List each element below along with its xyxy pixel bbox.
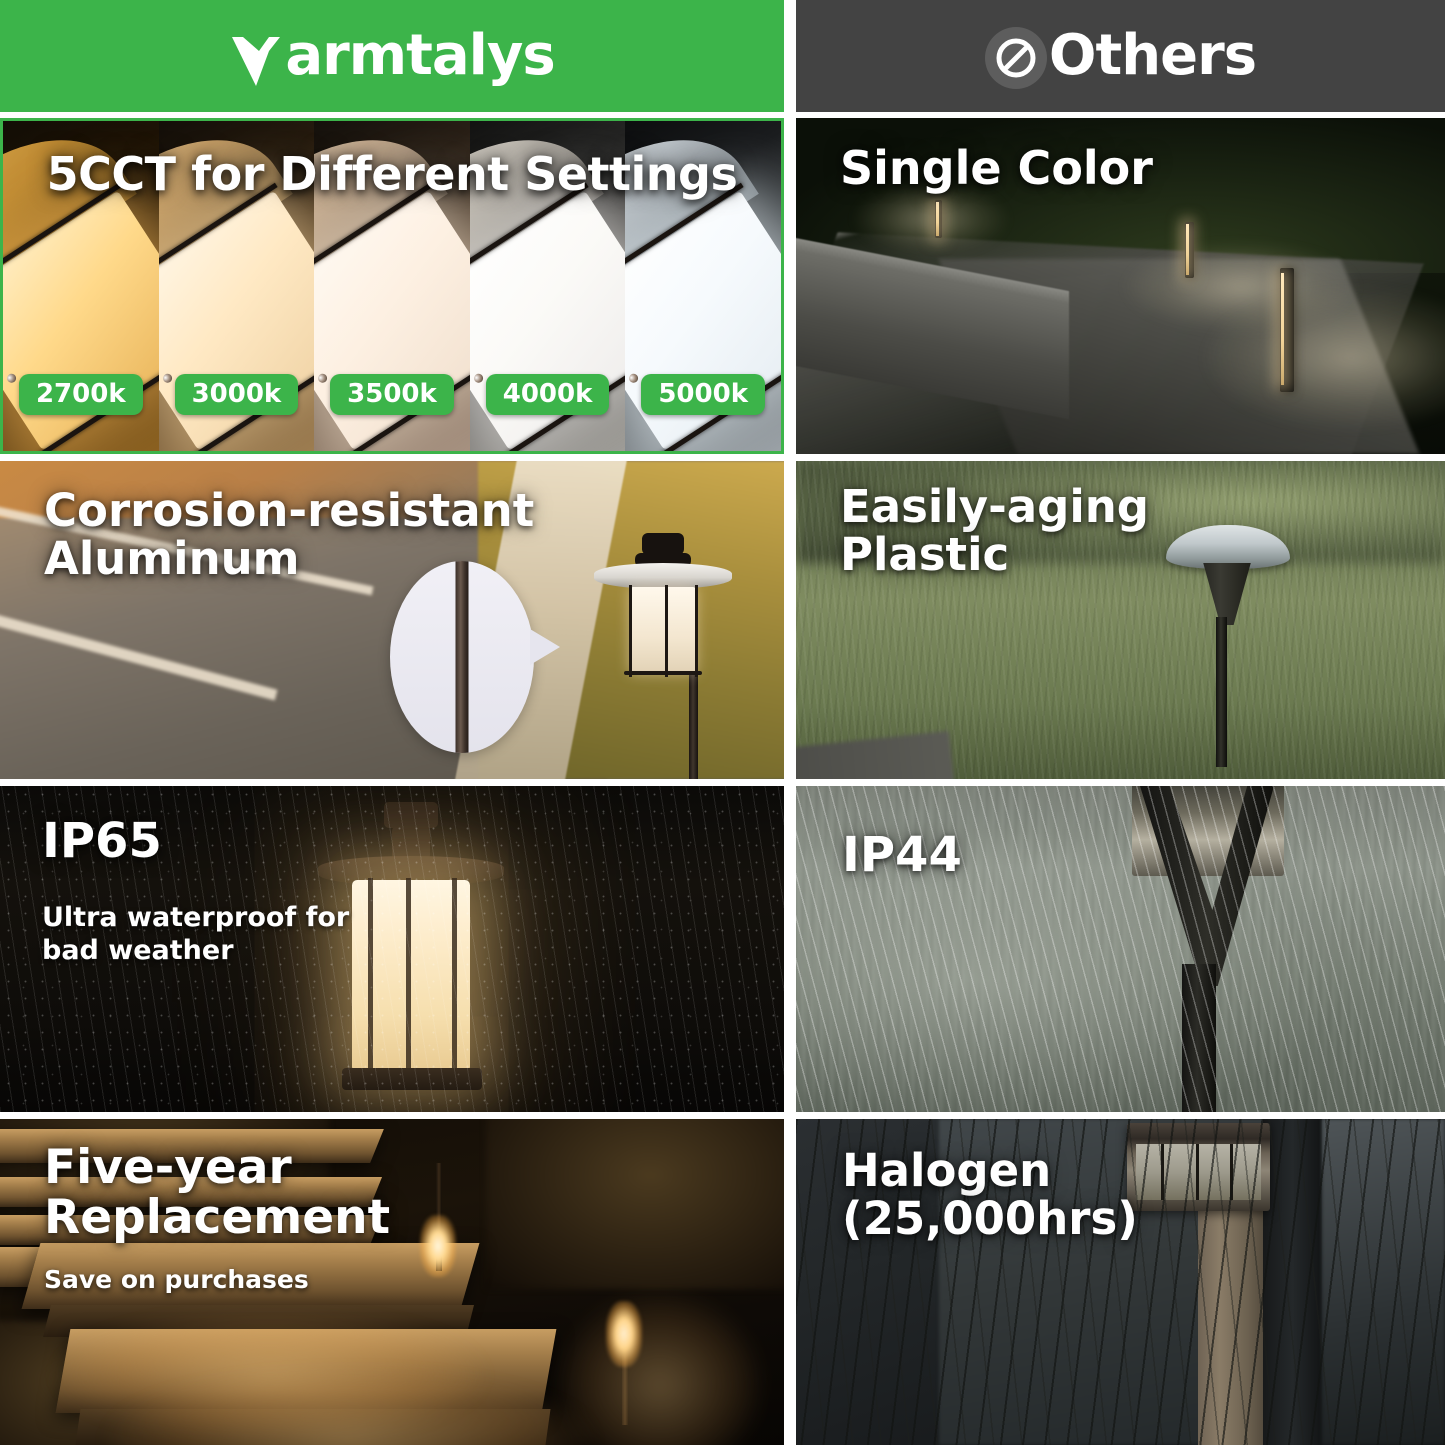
others-title: Others [1049,28,1256,84]
badge-2700k: 2700k [19,374,143,415]
plastic-title: Easily-aging Plastic [840,483,1149,578]
badge-3000k: 3000k [175,374,299,415]
ip44-title: IP44 [842,830,962,881]
brand-logo: armtalys [229,27,554,85]
no-entry-icon [985,27,1047,89]
brand-column: armtalys [0,0,784,1445]
aluminum-title: Corrosion-resistant Aluminum [44,487,534,582]
cell-warranty: Five-year Replacement Save on purchases [0,1119,784,1445]
cell-halogen: Halogen (25,000hrs) [796,1119,1445,1445]
cell-single-color: Single Color [796,118,1445,454]
halogen-title: Halogen (25,000hrs) [842,1147,1138,1242]
warranty-title: Five-year Replacement [44,1143,390,1243]
warranty-subtitle: Save on purchases [44,1265,309,1296]
brand-header: armtalys [0,0,784,112]
cct-badge-row: 2700k 3000k 3500k 4000k 5000k [3,374,781,415]
badge-4000k: 4000k [486,374,610,415]
badge-3500k: 3500k [330,374,454,415]
cell-ip65: IP65 Ultra waterproof for bad weather [0,786,784,1112]
v-chevron-logo-icon [229,31,283,89]
single-color-title: Single Color [840,144,1153,193]
ip65-title: IP65 [42,816,162,867]
ip65-subtitle: Ultra waterproof for bad weather [42,902,349,968]
magnifier-callout [390,561,534,753]
cell-ip44: IP44 [796,786,1445,1112]
others-column: Others Single Color [796,0,1445,1445]
cell-cct: 5CCT for Different Settings 2700k 3000k … [0,118,784,454]
cell-plastic: Easily-aging Plastic [796,461,1445,779]
brand-name: armtalys [285,28,554,84]
cell-aluminum: Corrosion-resistant Aluminum [0,461,784,779]
badge-5000k: 5000k [641,374,765,415]
comparison-infographic: armtalys [0,0,1445,1445]
others-header: Others [796,0,1445,112]
